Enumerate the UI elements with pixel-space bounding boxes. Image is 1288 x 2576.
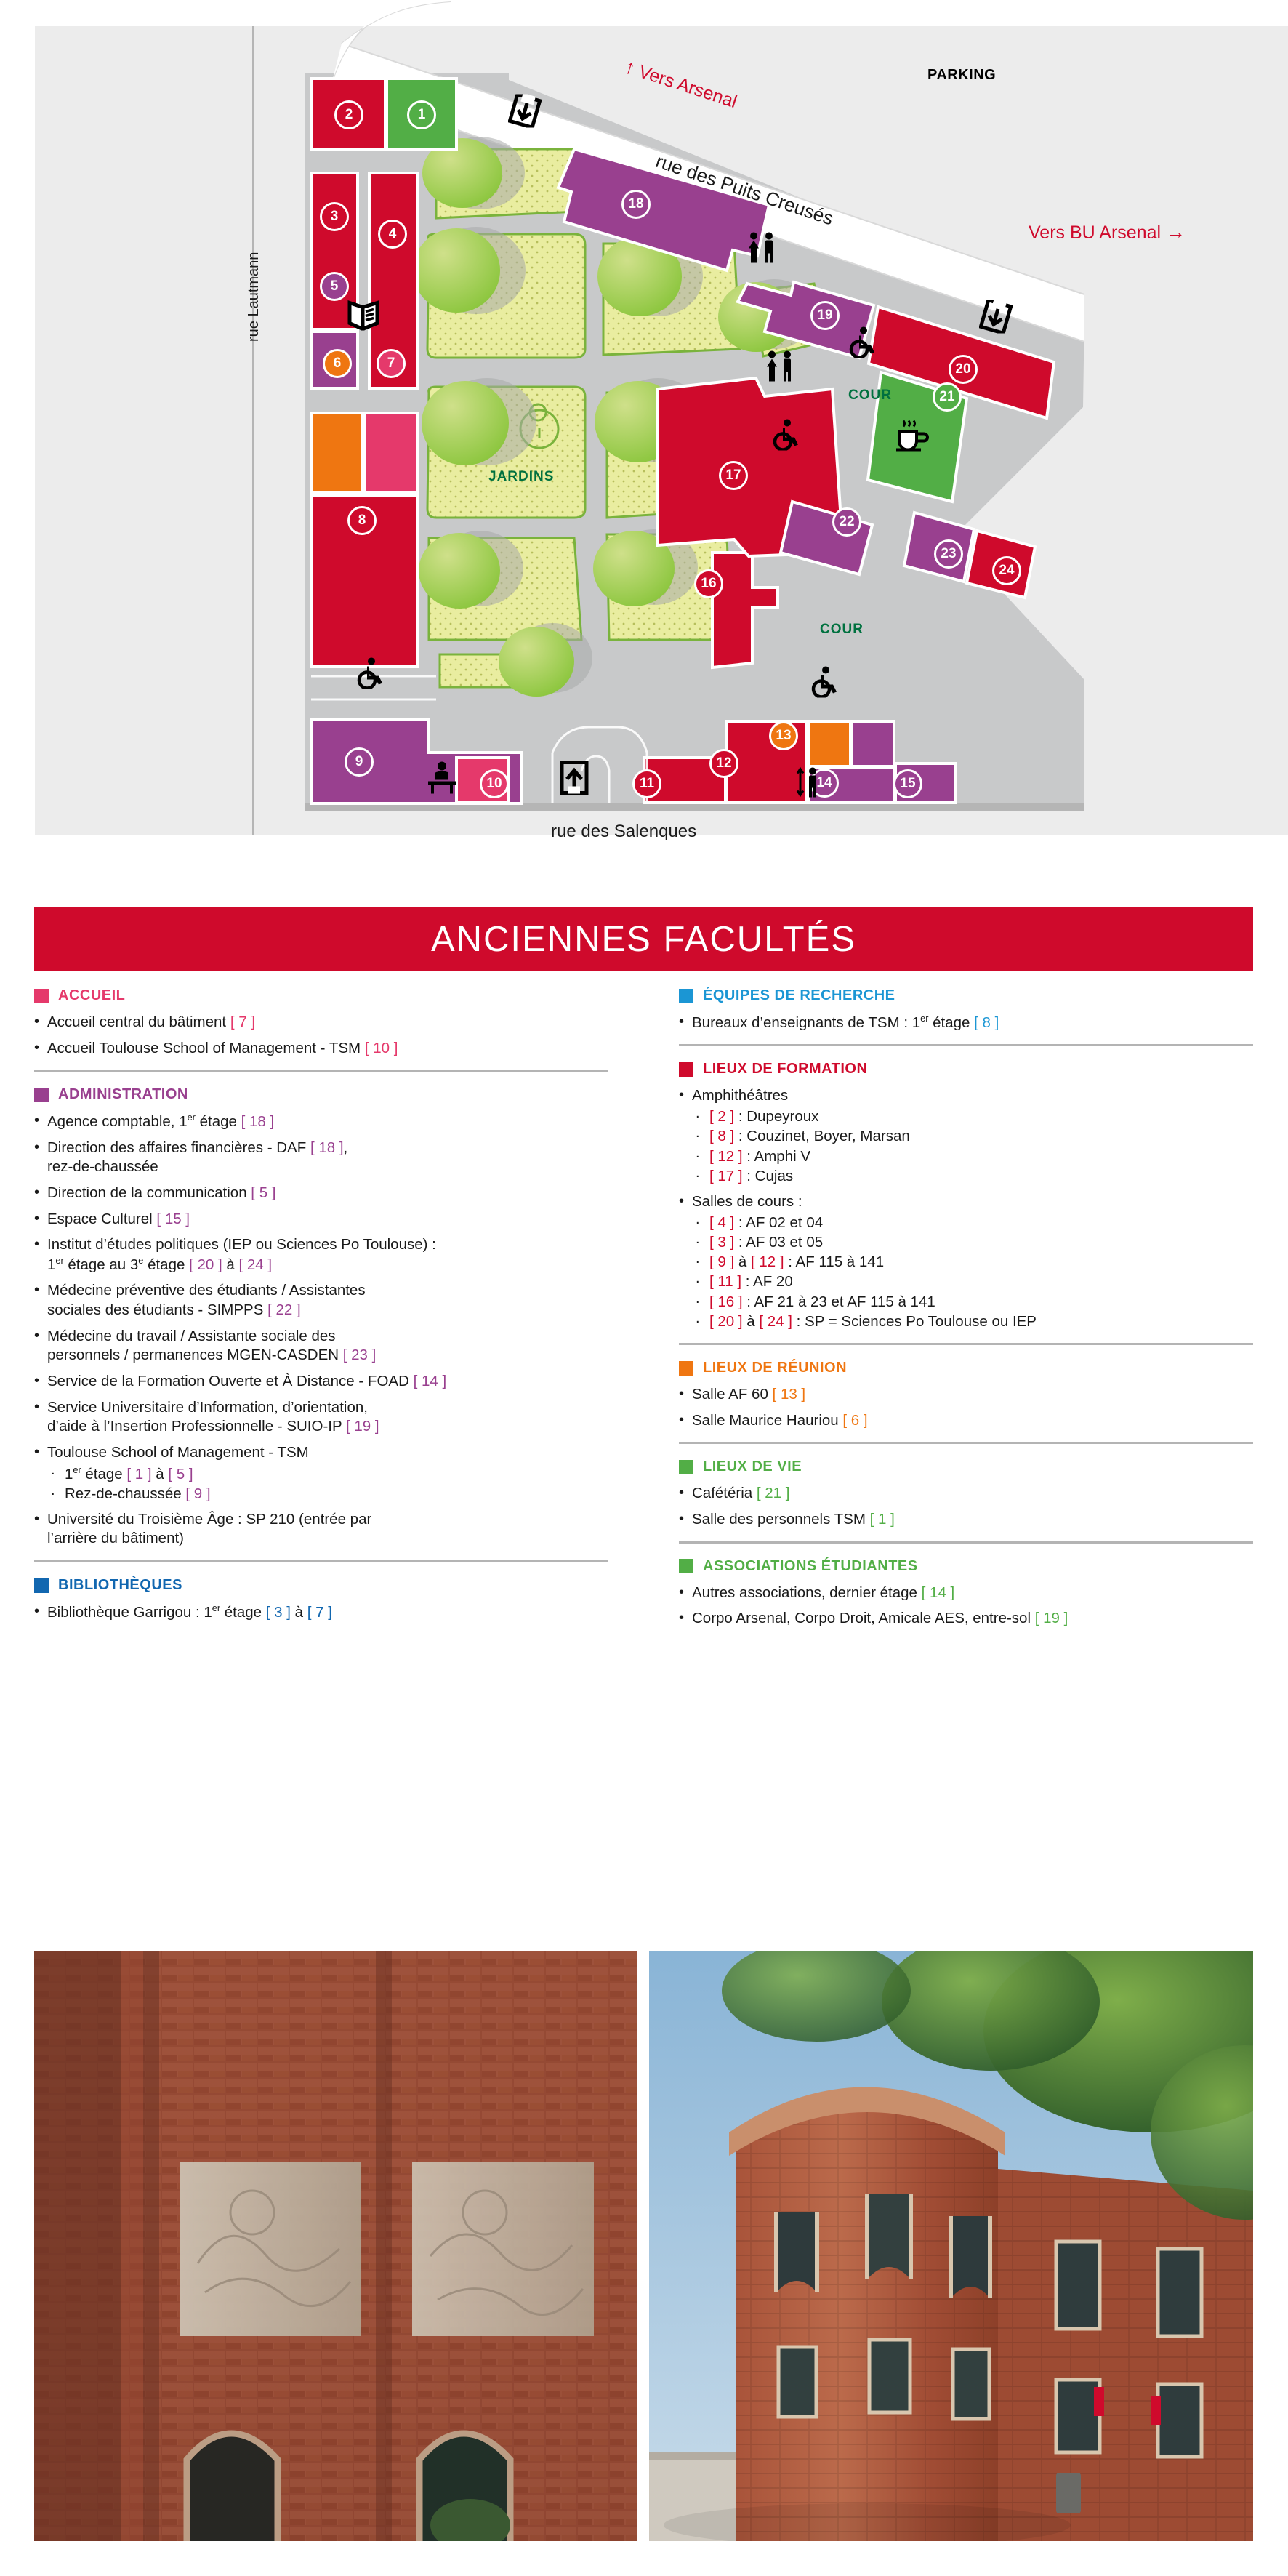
- building-7: [365, 413, 417, 493]
- legend-item[interactable]: Toulouse School of Management - TSM1er é…: [34, 1443, 608, 1504]
- photo-brick-rotunda-building: [649, 1951, 1253, 2541]
- legend-item[interactable]: Agence comptable, 1er étage [ 18 ]: [34, 1112, 608, 1131]
- legend-section-administration: ADMINISTRATIONAgence comptable, 1er étag…: [34, 1086, 608, 1562]
- legend-item-list: Autres associations, dernier étage [ 14 …: [679, 1584, 1253, 1629]
- building-number-1[interactable]: 1: [407, 100, 436, 129]
- legend-color-swatch: [34, 1088, 49, 1102]
- legend-item-list: Bureaux d’enseignants de TSM : 1er étage…: [679, 1013, 1253, 1032]
- legend-subitem[interactable]: [ 17 ] : Cujas: [692, 1167, 1253, 1186]
- legend-item-list: Accueil central du bâtiment [ 7 ]Accueil…: [34, 1013, 608, 1058]
- building-number-15[interactable]: 15: [893, 769, 922, 798]
- legend-section-heading: BIBLIOTHÈQUES: [34, 1577, 608, 1594]
- building-number-19[interactable]: 19: [810, 301, 840, 330]
- legend-divider: [679, 1343, 1253, 1345]
- legend-item-list: Amphithéâtres[ 2 ] : Dupeyroux[ 8 ] : Co…: [679, 1086, 1253, 1331]
- legend-color-swatch: [679, 989, 693, 1003]
- legend-item-list: Agence comptable, 1er étage [ 18 ]Direct…: [34, 1112, 608, 1549]
- building-number-20[interactable]: 20: [949, 355, 978, 384]
- legend-section-vie: LIEUX DE VIECafétéria [ 21 ]Salle des pe…: [679, 1458, 1253, 1543]
- legend-section-heading: ÉQUIPES DE RECHERCHE: [679, 987, 1253, 1004]
- legend-subitem[interactable]: [ 8 ] : Couzinet, Boyer, Marsan: [692, 1127, 1253, 1146]
- legend-subitem-list: 1er étage [ 1 ] à [ 5 ]Rez-de-chaussée […: [47, 1464, 608, 1504]
- elevator-icon: [794, 766, 823, 802]
- legend-color-swatch: [679, 1062, 693, 1077]
- legend-section-bibliotheques: BIBLIOTHÈQUESBibliothèque Garrigou : 1er…: [34, 1577, 608, 1622]
- building-13: [808, 721, 850, 766]
- legend-item-list: Cafétéria [ 21 ]Salle des personnels TSM…: [679, 1484, 1253, 1529]
- wheelchair-icon: [355, 657, 387, 693]
- arrow-right-icon: →: [1166, 221, 1186, 243]
- legend-color-swatch: [34, 989, 49, 1003]
- legend-item[interactable]: Accueil Toulouse School of Management - …: [34, 1039, 608, 1059]
- building-number-12[interactable]: 12: [709, 749, 738, 778]
- legend-item[interactable]: Salle AF 60 [ 13 ]: [679, 1385, 1253, 1405]
- legend-subitem[interactable]: [ 3 ] : AF 03 et 05: [692, 1233, 1253, 1252]
- legend-heading-label: LIEUX DE RÉUNION: [703, 1360, 847, 1376]
- building-number-6[interactable]: 6: [323, 349, 352, 378]
- building-number-22[interactable]: 22: [832, 507, 861, 537]
- street-label-lautmann: rue Lautmann: [246, 252, 262, 342]
- legend-item[interactable]: Institut d’études politiques (IEP ou Sci…: [34, 1235, 608, 1275]
- wheelchair-icon: [809, 666, 841, 702]
- legend-item[interactable]: Salle des personnels TSM [ 1 ]: [679, 1510, 1253, 1530]
- legend-section-associations: ASSOCIATIONS ÉTUDIANTESAutres associatio…: [679, 1558, 1253, 1629]
- legend-subitem[interactable]: [ 12 ] : Amphi V: [692, 1147, 1253, 1166]
- legend-item[interactable]: Cafétéria [ 21 ]: [679, 1484, 1253, 1504]
- area-label-cour-nord: COUR: [848, 388, 892, 404]
- building-number-4[interactable]: 4: [378, 220, 407, 249]
- page-title-banner: ANCIENNES FACULTÉS: [34, 907, 1253, 971]
- legend-divider: [679, 1442, 1253, 1444]
- toilets-icon: [762, 350, 797, 387]
- building-number-21[interactable]: 21: [933, 382, 962, 412]
- wheelchair-icon: [847, 326, 879, 362]
- legend-item[interactable]: Direction de la communication [ 5 ]: [34, 1184, 608, 1203]
- legend-subitem[interactable]: [ 20 ] à [ 24 ] : SP = Sciences Po Toulo…: [692, 1312, 1253, 1331]
- legend-divider: [679, 1541, 1253, 1544]
- legend-section-formation: LIEUX DE FORMATIONAmphithéâtres[ 2 ] : D…: [679, 1061, 1253, 1345]
- area-label-jardins: JARDINS: [488, 469, 554, 485]
- legend-item[interactable]: Autres associations, dernier étage [ 14 …: [679, 1584, 1253, 1603]
- legend-item-ref: [ 10 ]: [365, 1040, 398, 1056]
- legend-subitem-list: [ 2 ] : Dupeyroux[ 8 ] : Couzinet, Boyer…: [692, 1107, 1253, 1186]
- legend-subitem[interactable]: [ 4 ] : AF 02 et 04: [692, 1213, 1253, 1232]
- building-number-7[interactable]: 7: [377, 349, 406, 378]
- building-6: [311, 413, 362, 493]
- legend-subitem[interactable]: [ 9 ] à [ 12 ] : AF 115 à 141: [692, 1253, 1253, 1272]
- legend-section-recherche: ÉQUIPES DE RECHERCHEBureaux d’enseignant…: [679, 987, 1253, 1046]
- legend-heading-label: ACCUEIL: [58, 987, 125, 1004]
- legend-item[interactable]: Accueil central du bâtiment [ 7 ]: [34, 1013, 608, 1032]
- legend-item[interactable]: Espace Culturel [ 15 ]: [34, 1210, 608, 1229]
- legend-heading-label: ÉQUIPES DE RECHERCHE: [703, 987, 895, 1004]
- photo-strip: [34, 1951, 1253, 2541]
- wheelchair-icon: [770, 419, 802, 454]
- legend-item[interactable]: Médecine du travail / Assistante sociale…: [34, 1327, 608, 1365]
- legend-divider: [34, 1560, 608, 1562]
- legend-item[interactable]: Médecine préventive des étudiants / Assi…: [34, 1281, 608, 1320]
- legend-section-heading: LIEUX DE FORMATION: [679, 1061, 1253, 1078]
- building-number-18[interactable]: 18: [621, 190, 651, 219]
- area-label-cour-sud: COUR: [820, 622, 864, 638]
- building-number-24[interactable]: 24: [992, 556, 1021, 585]
- legend-item-list: Salle AF 60 [ 13 ]Salle Maurice Hauriou …: [679, 1385, 1253, 1430]
- direction-vers-bu-arsenal: Vers BU Arsenal →: [1029, 221, 1186, 244]
- photo-brick-facade-relief: [34, 1951, 637, 2541]
- legend-item-ref: [ 7 ]: [230, 1014, 255, 1030]
- legend-item[interactable]: Salles de cours :[ 4 ] : AF 02 et 04[ 3 …: [679, 1192, 1253, 1331]
- legend-item[interactable]: Amphithéâtres[ 2 ] : Dupeyroux[ 8 ] : Co…: [679, 1086, 1253, 1186]
- legend-section-accueil: ACCUEILAccueil central du bâtiment [ 7 ]…: [34, 987, 608, 1072]
- direction-label: Vers BU Arsenal: [1029, 222, 1161, 243]
- legend-item[interactable]: Bibliothèque Garrigou : 1er étage [ 3 ] …: [34, 1602, 608, 1622]
- legend-heading-label: ADMINISTRATION: [58, 1086, 188, 1103]
- legend-item-list: Bibliothèque Garrigou : 1er étage [ 3 ] …: [34, 1602, 608, 1622]
- reception-desk-icon: [425, 761, 459, 798]
- legend-divider: [679, 1044, 1253, 1046]
- area-label-parking: PARKING: [927, 67, 996, 84]
- street-label-salenques: rue des Salenques: [551, 822, 696, 842]
- building-14b: [852, 721, 894, 766]
- legend-heading-label: BIBLIOTHÈQUES: [58, 1577, 182, 1594]
- legend-heading-label: LIEUX DE FORMATION: [703, 1061, 867, 1078]
- map-vector: [0, 0, 1288, 862]
- legend-subitem[interactable]: 1er étage [ 1 ] à [ 5 ]: [47, 1464, 608, 1484]
- exit-arrow-icon: [558, 761, 590, 799]
- legend-section-heading: ACCUEIL: [34, 987, 608, 1004]
- legend-section-heading: ADMINISTRATION: [34, 1086, 608, 1103]
- building-number-8[interactable]: 8: [347, 506, 377, 535]
- legend-section-heading: ASSOCIATIONS ÉTUDIANTES: [679, 1558, 1253, 1575]
- legend: ACCUEILAccueil central du bâtiment [ 7 ]…: [34, 987, 1253, 1205]
- entrance-icon: [979, 300, 1013, 337]
- building-number-17[interactable]: 17: [719, 461, 748, 490]
- building-number-10[interactable]: 10: [480, 769, 509, 798]
- legend-section-reunion: LIEUX DE RÉUNIONSalle AF 60 [ 13 ]Salle …: [679, 1360, 1253, 1444]
- legend-subitem-list: [ 4 ] : AF 02 et 04[ 3 ] : AF 03 et 05[ …: [692, 1213, 1253, 1331]
- book-icon: [347, 297, 380, 334]
- legend-color-swatch: [679, 1559, 693, 1573]
- legend-color-swatch: [679, 1460, 693, 1474]
- legend-section-heading: LIEUX DE VIE: [679, 1458, 1253, 1475]
- legend-column-left: ACCUEILAccueil central du bâtiment [ 7 ]…: [34, 987, 608, 1629]
- building-number-13[interactable]: 13: [769, 721, 798, 750]
- legend-color-swatch: [34, 1578, 49, 1593]
- legend-heading-label: ASSOCIATIONS ÉTUDIANTES: [703, 1558, 918, 1575]
- legend-divider: [34, 1070, 608, 1072]
- legend-column-right: ÉQUIPES DE RECHERCHEBureaux d’enseignant…: [679, 987, 1253, 1635]
- building-number-9[interactable]: 9: [345, 747, 374, 777]
- legend-item[interactable]: Service de la Formation Ouverte et À Dis…: [34, 1372, 608, 1392]
- legend-section-heading: LIEUX DE RÉUNION: [679, 1360, 1253, 1376]
- page-title: ANCIENNES FACULTÉS: [431, 919, 856, 960]
- entrance-icon: [508, 95, 542, 132]
- legend-subitem[interactable]: [ 11 ] : AF 20: [692, 1272, 1253, 1291]
- legend-item[interactable]: Université du Troisième Âge : SP 210 (en…: [34, 1510, 608, 1549]
- legend-item[interactable]: Corpo Arsenal, Corpo Droit, Amicale AES,…: [679, 1609, 1253, 1629]
- building-number-3[interactable]: 3: [320, 202, 349, 231]
- legend-item[interactable]: Service Universitaire d’Information, d’o…: [34, 1398, 608, 1437]
- building-number-5[interactable]: 5: [320, 272, 349, 301]
- building-number-16[interactable]: 16: [694, 569, 723, 598]
- legend-subitem[interactable]: [ 2 ] : Dupeyroux: [692, 1107, 1253, 1126]
- legend-color-swatch: [679, 1361, 693, 1376]
- building-number-11[interactable]: 11: [632, 769, 661, 798]
- toilets-icon: [744, 231, 779, 268]
- campus-map: 2 1 3 4 5 6 7 8 9 10 11 12 13 14 15 16 1…: [0, 0, 1288, 862]
- building-number-2[interactable]: 2: [334, 100, 363, 129]
- cafe-icon: [895, 420, 933, 457]
- legend-heading-label: LIEUX DE VIE: [703, 1458, 802, 1475]
- legend-item[interactable]: Direction des affaires financières - DAF…: [34, 1139, 608, 1177]
- legend-subitem[interactable]: [ 16 ] : AF 21 à 23 et AF 115 à 141: [692, 1293, 1253, 1312]
- legend-item[interactable]: Bureaux d’enseignants de TSM : 1er étage…: [679, 1013, 1253, 1032]
- legend-subitem[interactable]: Rez-de-chaussée [ 9 ]: [47, 1485, 608, 1504]
- building-number-23[interactable]: 23: [934, 539, 963, 569]
- legend-item[interactable]: Salle Maurice Hauriou [ 6 ]: [679, 1411, 1253, 1431]
